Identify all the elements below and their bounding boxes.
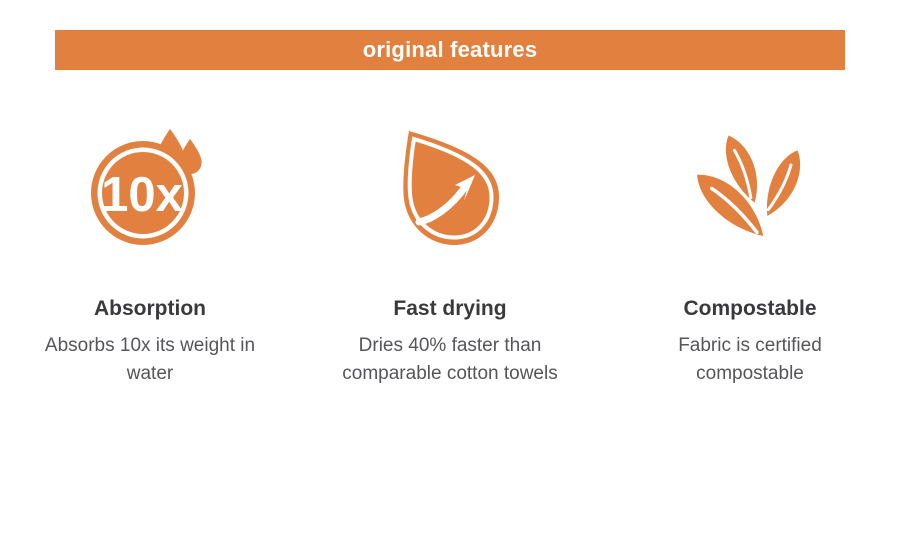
feature-list: 10x Absorption Absorbs 10x its weight in…: [0, 120, 900, 387]
water-drop-10x-badge-icon: 10x: [86, 123, 214, 253]
banner-title: original features: [363, 39, 538, 61]
banner: original features: [55, 30, 845, 70]
feature-item-absorption: 10x Absorption Absorbs 10x its weight in…: [0, 120, 300, 387]
infographic-page: original features 10x: [0, 0, 900, 540]
droplet-up-arrow-icon: [391, 123, 509, 253]
feature-icon-wrap: [684, 120, 816, 255]
feature-item-fast-drying: Fast drying Dries 40% faster than compar…: [300, 120, 600, 387]
feature-body: Absorbs 10x its weight in water: [20, 332, 280, 387]
three-leaves-icon: [684, 123, 816, 253]
feature-heading: Compostable: [683, 297, 816, 320]
badge-label: 10x: [101, 168, 183, 222]
feature-icon-wrap: 10x: [86, 120, 214, 255]
feature-heading: Fast drying: [393, 297, 506, 320]
feature-heading: Absorption: [94, 297, 206, 320]
feature-item-compostable: Compostable Fabric is certified composta…: [600, 120, 900, 387]
feature-body: Fabric is certified compostable: [652, 332, 848, 387]
feature-icon-wrap: [391, 120, 509, 255]
feature-body: Dries 40% faster than comparable cotton …: [316, 332, 584, 387]
